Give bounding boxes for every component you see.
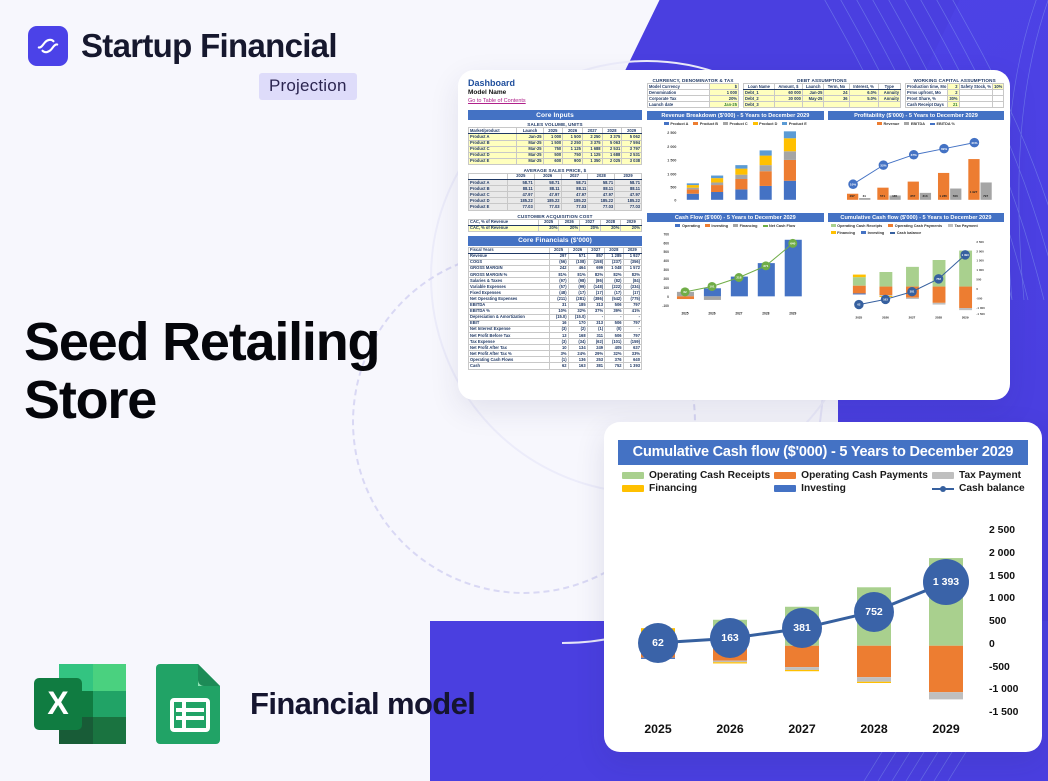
svg-text:313: 313 (922, 195, 927, 199)
svg-text:400: 400 (663, 260, 669, 264)
mini-chart-legend-profitability: Revenue EBITDA EBITDA % (828, 120, 1005, 127)
svg-text:1 500: 1 500 (667, 159, 676, 163)
table-row: CAC, % of Revenue20%20%20%20%20% (469, 225, 642, 231)
svg-text:-100: -100 (662, 304, 669, 308)
svg-text:2 000: 2 000 (667, 145, 676, 149)
legend-item-investing: Investing (774, 483, 928, 494)
core-financials-table: Fiscal Years 2025 2026 2027 2028 2029 Re… (468, 247, 642, 370)
cac-table: CAC, % of Revenue 2025 2026 2027 2028 20… (468, 219, 642, 232)
mini-chart-title-revenue-breakdown: Revenue Breakdown ($'000) - 5 Years to D… (647, 111, 824, 120)
mini-chart-revenue-breakdown: 2 5002 0001 500 1 0005000 (647, 127, 824, 205)
dashboard-toc-link[interactable]: Go to Table of Contents (468, 98, 642, 106)
mini-chart-legend-cumulative: Operating Cash Receipts Operating Cash P… (828, 222, 1005, 236)
svg-text:500: 500 (976, 278, 981, 282)
legend-swatch (622, 472, 644, 479)
currency-table: Model Currency$ Denomination1 000 Corpor… (647, 83, 739, 108)
svg-text:2027: 2027 (908, 316, 915, 320)
table-row: Cash621633817521 393 (469, 363, 642, 369)
poster-canvas: Startup Financial Projection Seed Retail… (0, 0, 1048, 781)
svg-text:2029: 2029 (961, 316, 968, 320)
svg-text:10%: 10% (850, 183, 856, 187)
mini-chart-cash-flow: 700600500400 3002001000-100 (647, 229, 824, 317)
svg-text:797: 797 (983, 195, 988, 199)
legend-item-cash-balance: Cash balance (932, 483, 1028, 494)
y-axis-tick: -1 500 (989, 707, 1018, 718)
bar-segment (929, 646, 963, 692)
svg-text:506: 506 (952, 195, 957, 199)
svg-text:381: 381 (909, 290, 914, 294)
microsoft-excel-icon: X (30, 660, 130, 748)
data-point-bubble: 752 (854, 592, 894, 632)
legend-label: Cash balance (959, 483, 1025, 494)
legend-label: Operating Cash Receipts (649, 470, 770, 481)
debt-table: Loan NameAmount, $ LaunchTerm, No Intere… (743, 83, 901, 108)
chart-x-axis-labels: 20252026202720282029 (622, 722, 982, 742)
svg-text:2 500: 2 500 (667, 131, 676, 135)
legend-item-operating-cash-receipts: Operating Cash Receipts (622, 470, 770, 481)
svg-text:2028: 2028 (762, 312, 769, 316)
brand-name: Startup Financial (81, 27, 337, 65)
svg-text:1 393: 1 393 (961, 253, 968, 257)
y-axis-tick: -500 (989, 662, 1010, 673)
legend-label: Tax Payment (959, 470, 1021, 481)
chart-title: Cumulative Cash flow ($'000) - 5 Years t… (618, 440, 1028, 465)
svg-text:1 000: 1 000 (667, 173, 676, 177)
svg-text:185: 185 (892, 195, 897, 199)
svg-text:39%: 39% (941, 147, 947, 151)
y-axis-tick: -1 000 (989, 684, 1018, 695)
legend-label: Investing (801, 483, 846, 494)
svg-text:-1 000: -1 000 (976, 306, 985, 310)
chart-y-axis-labels: 2 5002 0001 5001 0005000-500-1 000-1 500 (989, 522, 1041, 722)
svg-text:600: 600 (663, 242, 669, 246)
svg-text:2025: 2025 (681, 312, 688, 316)
svg-text:0: 0 (674, 199, 676, 203)
mini-chart-legend-revenue-breakdown: Product A Product B Product C Product D … (647, 120, 824, 127)
table-row: Launch dateJan-25 (648, 102, 739, 108)
brand-subtitle: Projection (259, 73, 357, 100)
svg-text:-500: -500 (976, 297, 982, 301)
svg-text:297: 297 (849, 195, 854, 199)
dashboard-model-name: Model Name (468, 89, 642, 97)
legend-swatch (622, 485, 644, 492)
y-axis-tick: 2 500 (989, 525, 1015, 536)
svg-text:1 927: 1 927 (969, 190, 977, 194)
y-axis-tick: 500 (989, 616, 1006, 627)
svg-text:-1 500: -1 500 (976, 312, 985, 316)
svg-text:857: 857 (910, 195, 915, 199)
svg-text:371: 371 (763, 264, 768, 268)
svg-text:163: 163 (883, 298, 888, 302)
dashboard-title: Dashboard (468, 78, 642, 89)
bar-segment (713, 662, 747, 663)
svg-text:2029: 2029 (789, 312, 796, 316)
svg-text:500: 500 (670, 186, 676, 190)
table-row: Debt_3 (744, 102, 901, 108)
page-title: Seed Retailing Store (24, 313, 464, 430)
legend-line-marker-icon (932, 485, 954, 492)
x-axis-tick: 2026 (694, 722, 766, 742)
svg-text:31: 31 (862, 195, 866, 199)
legend-label: Financing (649, 483, 697, 494)
legend-item-financing: Financing (622, 483, 770, 494)
mini-chart-cumulative: 2 5002 0001 5001 000 5000-500-1 000-1 50… (828, 236, 1005, 320)
bar-segment (785, 646, 819, 667)
e-swirl-logo-icon (28, 26, 68, 66)
svg-text:2026: 2026 (882, 316, 889, 320)
legend-item-operating-cash-payments: Operating Cash Payments (774, 470, 928, 481)
mini-chart-title-cumulative: Cumulative Cash flow ($'000) - 5 Years t… (828, 213, 1005, 222)
bar-segment (785, 670, 819, 671)
svg-text:300: 300 (663, 269, 669, 273)
svg-text:2 000: 2 000 (976, 250, 984, 254)
svg-text:640: 640 (790, 242, 795, 246)
chart-legend: Operating Cash Receipts Operating Cash P… (622, 470, 1028, 494)
svg-text:X: X (47, 685, 69, 721)
working-capital-table: Production time, Mo2Safety Stock, %10% P… (905, 83, 1004, 108)
legend-swatch (932, 472, 954, 479)
svg-text:41%: 41% (971, 141, 977, 145)
legend-item-tax-payment: Tax Payment (932, 470, 1028, 481)
file-format-label: Financial model (250, 686, 475, 722)
x-axis-tick: 2025 (622, 722, 694, 742)
svg-text:0: 0 (667, 296, 669, 300)
x-axis-tick: 2027 (766, 722, 838, 742)
svg-text:700: 700 (663, 233, 669, 237)
mini-chart-title-cash-flow: Cash Flow ($'000) - 5 Years to December … (647, 213, 824, 222)
svg-text:1 500: 1 500 (976, 259, 984, 263)
svg-text:752: 752 (936, 277, 941, 281)
legend-swatch (774, 485, 796, 492)
mini-chart-profitability: 10%32%37%39%41% 29731 571185 857313 1 28… (828, 127, 1005, 205)
svg-text:2 500: 2 500 (976, 240, 984, 244)
bar-segment (713, 661, 747, 663)
svg-text:571: 571 (880, 195, 885, 199)
currency-heading: CURRENCY, DENOMINATOR & TAX (647, 78, 739, 83)
svg-text:101: 101 (709, 285, 714, 289)
legend-swatch (774, 472, 796, 479)
brand-logo: Startup Financial (28, 26, 337, 66)
bar-segment (785, 667, 819, 670)
sales-volume-table: Market/product Launch 2025 2026 2027 202… (468, 127, 642, 165)
svg-text:1 000: 1 000 (976, 269, 984, 273)
table-row: Product E77.0377.0377.0377.0377.03 (469, 204, 642, 210)
x-axis-tick: 2029 (910, 722, 982, 742)
bar-segment (857, 682, 891, 683)
svg-text:100: 100 (663, 287, 669, 291)
legend-label: Operating Cash Payments (801, 470, 928, 481)
data-point-bubble: 62 (638, 623, 678, 663)
avg-price-table: 2025 2026 2027 2028 2029 Product A58.715… (468, 173, 642, 211)
svg-text:62: 62 (683, 290, 687, 294)
table-row: Cash Receipt Days21 (906, 102, 1004, 108)
svg-text:1 285: 1 285 (939, 195, 947, 199)
bar-segment (857, 646, 891, 677)
bar-segment (857, 677, 891, 682)
table-row: Product EMar-256009001 3502 0253 038 (469, 158, 642, 164)
core-financials-band: Core Financials ($'000) (468, 236, 642, 246)
bar-segment (929, 692, 963, 699)
x-axis-tick: 2028 (838, 722, 910, 742)
y-axis-tick: 2 000 (989, 548, 1015, 559)
svg-text:500: 500 (663, 251, 669, 255)
svg-text:200: 200 (663, 278, 669, 282)
cumulative-cash-flow-card[interactable]: Cumulative Cash flow ($'000) - 5 Years t… (604, 422, 1042, 752)
svg-text:218: 218 (736, 276, 741, 280)
google-sheets-icon (152, 660, 228, 748)
working-capital-heading: WORKING CAPITAL ASSUMPTIONS (905, 78, 1004, 83)
mini-chart-title-profitability: Profitability ($'000) - 5 Years to Decem… (828, 111, 1005, 120)
svg-text:2028: 2028 (935, 316, 942, 320)
svg-text:32%: 32% (880, 164, 886, 168)
y-axis-tick: 0 (989, 639, 995, 650)
file-format-row: X Financial model (30, 660, 475, 748)
mini-chart-legend-cash-flow: Operating Investing Financing Net Cash F… (647, 222, 824, 229)
core-inputs-band: Core Inputs (468, 110, 642, 120)
y-axis-tick: 1 500 (989, 571, 1015, 582)
svg-text:62: 62 (857, 303, 861, 307)
y-axis-tick: 1 000 (989, 593, 1015, 604)
svg-text:2026: 2026 (708, 312, 715, 316)
dashboard-preview-card[interactable]: Dashboard Model Name Go to Table of Cont… (458, 70, 1010, 400)
svg-text:2027: 2027 (735, 312, 742, 316)
svg-text:2025: 2025 (855, 316, 862, 320)
svg-text:0: 0 (976, 287, 978, 291)
svg-text:37%: 37% (910, 153, 916, 157)
